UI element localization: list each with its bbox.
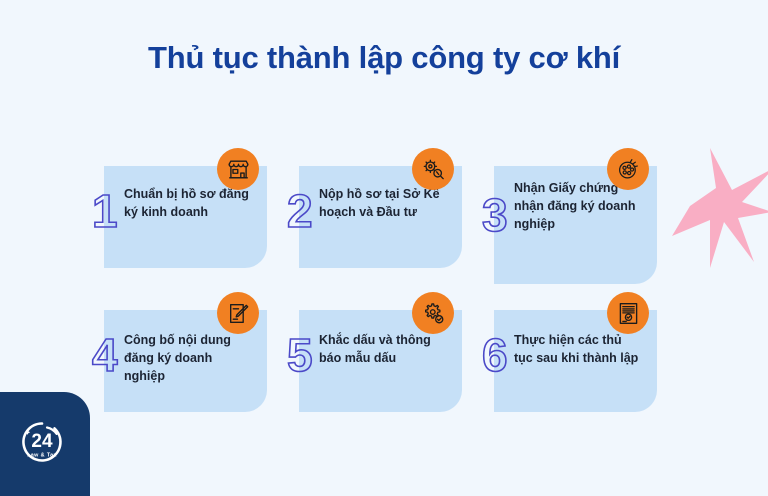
step-number: 6 xyxy=(482,332,508,378)
certificate-seal-icon xyxy=(616,157,641,182)
step-label: Khắc dấu và thông báo mẫu dấu xyxy=(319,332,445,368)
step-number: 1 xyxy=(92,188,118,234)
step-card-3[interactable]: 3 Nhận Giấy chứng nhận đăng ký doanh ngh… xyxy=(482,148,657,268)
step-card-1[interactable]: 1 Chuẩn bị hồ sơ đăng ký kinh doanh xyxy=(92,148,267,268)
step-label: Thực hiện các thủ tục sau khi thành lập xyxy=(514,332,640,368)
step-icon-badge xyxy=(217,292,259,334)
storefront-icon xyxy=(226,157,251,182)
step-number: 3 xyxy=(482,192,508,238)
step-icon-badge xyxy=(607,292,649,334)
step-number: 5 xyxy=(287,332,313,378)
step-number: 2 xyxy=(287,188,313,234)
step-icon-badge xyxy=(412,292,454,334)
svg-text:Law & Tax: Law & Tax xyxy=(27,453,57,459)
logo-mark: 24 Law & Tax xyxy=(14,414,70,470)
step-card-4[interactable]: 4 Công bố nội dung đăng ký doanh nghiệp xyxy=(92,292,267,412)
steps-grid: 1 Chuẩn bị hồ sơ đăng ký kinh doanh xyxy=(0,0,768,480)
step-card-2[interactable]: 2 Nộp hồ sơ tại Sở Kế hoạch và Đầu tư xyxy=(287,148,462,268)
step-label: Chuẩn bị hồ sơ đăng ký kinh doanh xyxy=(124,186,250,222)
step-icon-badge xyxy=(412,148,454,190)
step-label: Công bố nội dung đăng ký doanh nghiệp xyxy=(124,332,250,385)
gear-check-icon xyxy=(421,301,446,326)
logo-24-law-and-tax[interactable]: 24 Law & Tax xyxy=(0,392,90,496)
gear-magnifier-icon xyxy=(421,157,446,182)
step-icon-badge xyxy=(217,148,259,190)
step-number: 4 xyxy=(92,332,118,378)
step-card-5[interactable]: 5 Khắc dấu và thông báo mẫu dấu xyxy=(287,292,462,412)
certificate-document-icon xyxy=(616,301,641,326)
step-icon-badge xyxy=(607,148,649,190)
svg-text:24: 24 xyxy=(31,431,53,452)
step-card-6[interactable]: 6 Thực hiện các thủ tục sau khi thành lậ… xyxy=(482,292,657,412)
document-pen-icon xyxy=(226,301,251,326)
step-label: Nộp hồ sơ tại Sở Kế hoạch và Đầu tư xyxy=(319,186,445,222)
infographic-canvas: Thủ tục thành lập công ty cơ khí 1 Chuẩn… xyxy=(0,0,768,480)
